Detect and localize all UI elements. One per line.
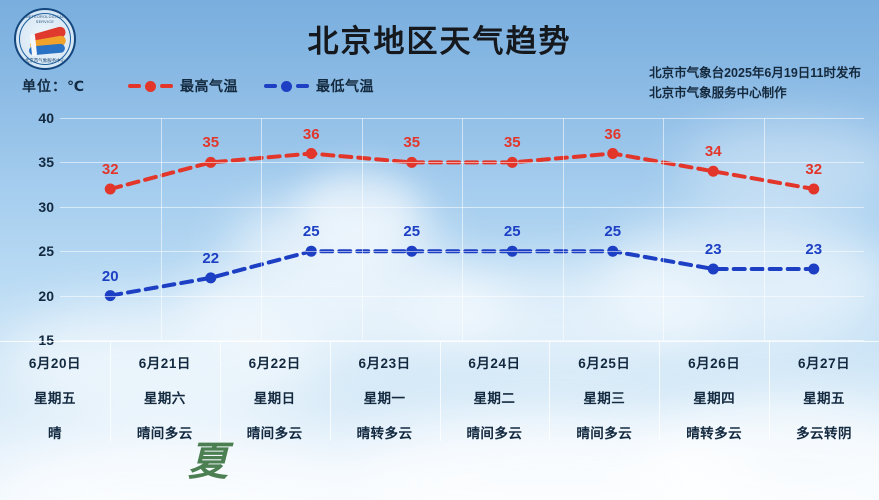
table-column-separator — [330, 341, 331, 441]
forecast-weather: 晴间多云 — [440, 422, 550, 442]
legend-dot-icon — [145, 81, 156, 92]
high-temp-value-label: 32 — [102, 161, 119, 178]
temperature-line-chart: 32353635353634322022252525252323 — [60, 118, 864, 340]
low-temp-value-label: 23 — [805, 241, 822, 258]
high-temp-value-label: 35 — [202, 134, 219, 151]
page-title: 北京地区天气趋势 — [0, 16, 879, 61]
low-temp-value-label: 22 — [202, 250, 219, 267]
forecast-weekday: 星期五 — [0, 387, 110, 407]
high-temp-value-label: 35 — [504, 134, 521, 151]
forecast-weather: 晴 — [0, 422, 110, 442]
forecast-weekday: 星期二 — [440, 387, 550, 407]
forecast-weekday: 星期五 — [769, 387, 879, 407]
high-temp-value-label: 36 — [604, 126, 621, 143]
table-column-separator — [110, 341, 111, 441]
forecast-weekday: 星期四 — [659, 387, 769, 407]
chart-legend: 最高气温 最低气温 — [128, 76, 374, 96]
table-column-separator — [659, 341, 660, 441]
legend-dot-icon — [281, 81, 292, 92]
grid-line-vertical — [563, 118, 564, 340]
low-temp-value-label: 25 — [303, 223, 320, 240]
attribution-producer-line: 北京市气象服务中心制作 — [649, 83, 861, 103]
table-column-separator — [769, 341, 770, 441]
forecast-date: 6月24日 — [440, 352, 550, 372]
legend-dash-icon — [264, 84, 277, 88]
forecast-date: 6月21日 — [110, 352, 220, 372]
low-temp-point — [205, 272, 216, 283]
high-temp-point — [808, 184, 819, 195]
forecast-weekday: 星期一 — [330, 387, 440, 407]
attribution-issue-line: 北京市气象台2025年6月19日11时发布 — [649, 63, 861, 83]
high-temp-point — [306, 148, 317, 159]
low-temp-value-label: 20 — [102, 268, 119, 285]
low-temp-value-label: 25 — [604, 223, 621, 240]
y-axis-tick-label: 25 — [38, 243, 54, 259]
forecast-column: 6月27日星期五多云转阴 — [769, 341, 879, 441]
forecast-weather: 多云转阴 — [769, 422, 879, 442]
legend-dash-icon — [296, 84, 309, 88]
legend-dash-icon — [128, 84, 141, 88]
forecast-weekday: 星期六 — [110, 387, 220, 407]
forecast-column: 6月25日星期三晴间多云 — [549, 341, 659, 441]
forecast-table: 6月20日星期五晴6月21日星期六晴间多云6月22日星期日晴间多云6月23日星期… — [0, 341, 879, 441]
high-temp-value-label: 36 — [303, 126, 320, 143]
calligraphy-watermark: 夏 — [168, 440, 248, 486]
forecast-column: 6月23日星期一晴转多云 — [330, 341, 440, 441]
weather-trend-infographic: METEOROLOGICAL SERVICE 北京市气象服务中心 北京地区天气趋… — [0, 0, 879, 500]
grid-line-vertical — [663, 118, 664, 340]
low-temp-value-label: 25 — [403, 223, 420, 240]
grid-line-vertical — [261, 118, 262, 340]
high-temp-point — [607, 148, 618, 159]
legend-label-high-temp: 最高气温 — [180, 76, 238, 96]
forecast-date: 6月23日 — [330, 352, 440, 372]
forecast-column: 6月26日星期四晴转多云 — [659, 341, 769, 441]
y-axis-tick-label: 30 — [38, 199, 54, 215]
high-temp-point — [708, 166, 719, 177]
unit-label: 单位：℃ — [22, 76, 85, 96]
high-temp-value-label: 34 — [705, 143, 722, 160]
y-axis: 403530252015 — [14, 118, 54, 340]
forecast-column: 6月21日星期六晴间多云 — [110, 341, 220, 441]
forecast-weekday: 星期日 — [220, 387, 330, 407]
low-temp-point — [808, 263, 819, 274]
table-column-separator — [220, 341, 221, 441]
forecast-date: 6月25日 — [549, 352, 659, 372]
grid-line-vertical — [764, 118, 765, 340]
high-temp-value-label: 35 — [403, 134, 420, 151]
forecast-column: 6月24日星期二晴间多云 — [440, 341, 550, 441]
y-axis-tick-label: 20 — [38, 288, 54, 304]
legend-item-high-temp: 最高气温 — [128, 76, 238, 96]
forecast-column: 6月20日星期五晴 — [0, 341, 110, 441]
legend-dash-icon — [160, 84, 173, 88]
y-axis-tick-label: 35 — [38, 154, 54, 170]
grid-line-vertical — [362, 118, 363, 340]
high-temp-point — [105, 184, 116, 195]
legend-label-low-temp: 最低气温 — [316, 76, 374, 96]
table-column-separator — [440, 341, 441, 441]
forecast-weekday: 星期三 — [549, 387, 659, 407]
table-column-separator — [549, 341, 550, 441]
forecast-date: 6月26日 — [659, 352, 769, 372]
forecast-date: 6月22日 — [220, 352, 330, 372]
low-temp-point — [708, 263, 719, 274]
forecast-column: 6月22日星期日晴间多云 — [220, 341, 330, 441]
high-temp-value-label: 32 — [805, 161, 822, 178]
forecast-weather: 晴间多云 — [549, 422, 659, 442]
y-axis-tick-label: 40 — [38, 110, 54, 126]
attribution-block: 北京市气象台2025年6月19日11时发布 北京市气象服务中心制作 — [649, 63, 861, 103]
grid-line-vertical — [462, 118, 463, 340]
low-temp-value-label: 25 — [504, 223, 521, 240]
forecast-date: 6月20日 — [0, 352, 110, 372]
forecast-weather: 晴间多云 — [220, 422, 330, 442]
forecast-date: 6月27日 — [769, 352, 879, 372]
low-temp-value-label: 23 — [705, 241, 722, 258]
forecast-weather: 晴转多云 — [659, 422, 769, 442]
grid-line-vertical — [161, 118, 162, 340]
legend-item-low-temp: 最低气温 — [264, 76, 374, 96]
forecast-weather: 晴转多云 — [330, 422, 440, 442]
